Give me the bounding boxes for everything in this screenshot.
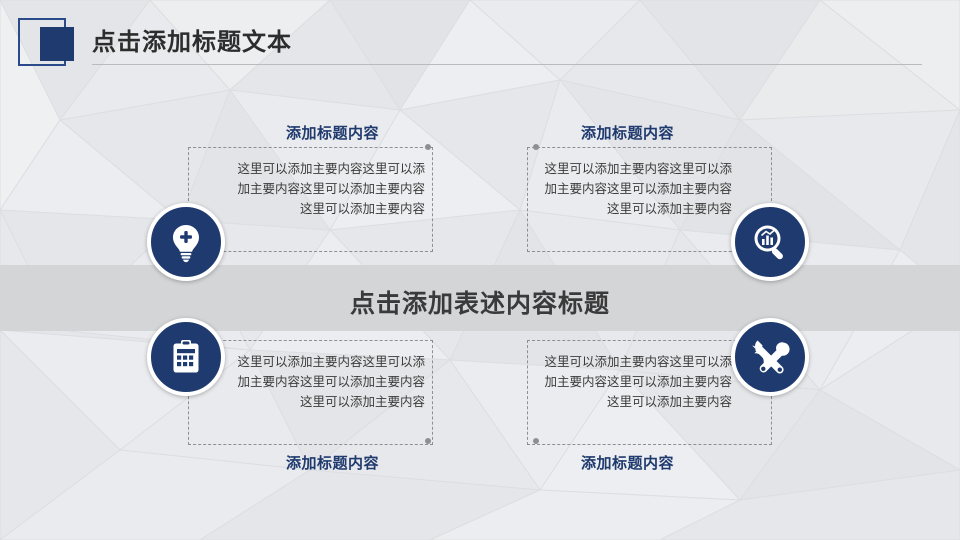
icon-badge-top-right[interactable] xyxy=(731,203,809,281)
wrench-screwdriver-icon xyxy=(748,335,792,379)
dot-marker-bottom-right xyxy=(533,438,539,444)
header-logo-solid-icon xyxy=(40,27,74,61)
quadrant-title-top-right: 添加标题内容 xyxy=(527,122,772,143)
icon-badge-top-left[interactable] xyxy=(147,203,225,281)
chart-magnifier-icon xyxy=(749,221,791,263)
center-band-title: 点击添加表述内容标题 xyxy=(0,284,960,320)
quadrant-title-bottom-right: 添加标题内容 xyxy=(527,452,772,473)
quadrant-body-top-right: 这里可以添加主要内容这里可以添加主要内容这里可以添加主要内容这里可以添加主要内容 xyxy=(540,159,732,219)
lightbulb-icon xyxy=(165,221,207,263)
dot-marker-bottom-left xyxy=(425,438,431,444)
quadrant-title-bottom-left: 添加标题内容 xyxy=(188,452,433,473)
slide-header: 点击添加标题文本 xyxy=(0,0,960,78)
clipboard-checklist-icon xyxy=(165,336,207,378)
quadrant-body-bottom-left: 这里可以添加主要内容这里可以添加主要内容这里可以添加主要内容这里可以添加主要内容 xyxy=(233,352,425,412)
icon-badge-bottom-right[interactable] xyxy=(731,318,809,396)
quadrant-body-top-left: 这里可以添加主要内容这里可以添加主要内容这里可以添加主要内容这里可以添加主要内容 xyxy=(233,159,425,219)
dot-marker-top-left xyxy=(425,144,431,150)
quadrant-title-top-left: 添加标题内容 xyxy=(188,122,433,143)
page-title: 点击添加标题文本 xyxy=(92,22,292,57)
header-divider xyxy=(92,64,922,65)
dot-marker-top-right xyxy=(533,144,539,150)
slide: 点击添加标题文本 点击添加表述内容标题 添加标题内容 添加标题内容 添加标题内容… xyxy=(0,0,960,540)
quadrant-body-bottom-right: 这里可以添加主要内容这里可以添加主要内容这里可以添加主要内容这里可以添加主要内容 xyxy=(540,352,732,412)
icon-badge-bottom-left[interactable] xyxy=(147,318,225,396)
